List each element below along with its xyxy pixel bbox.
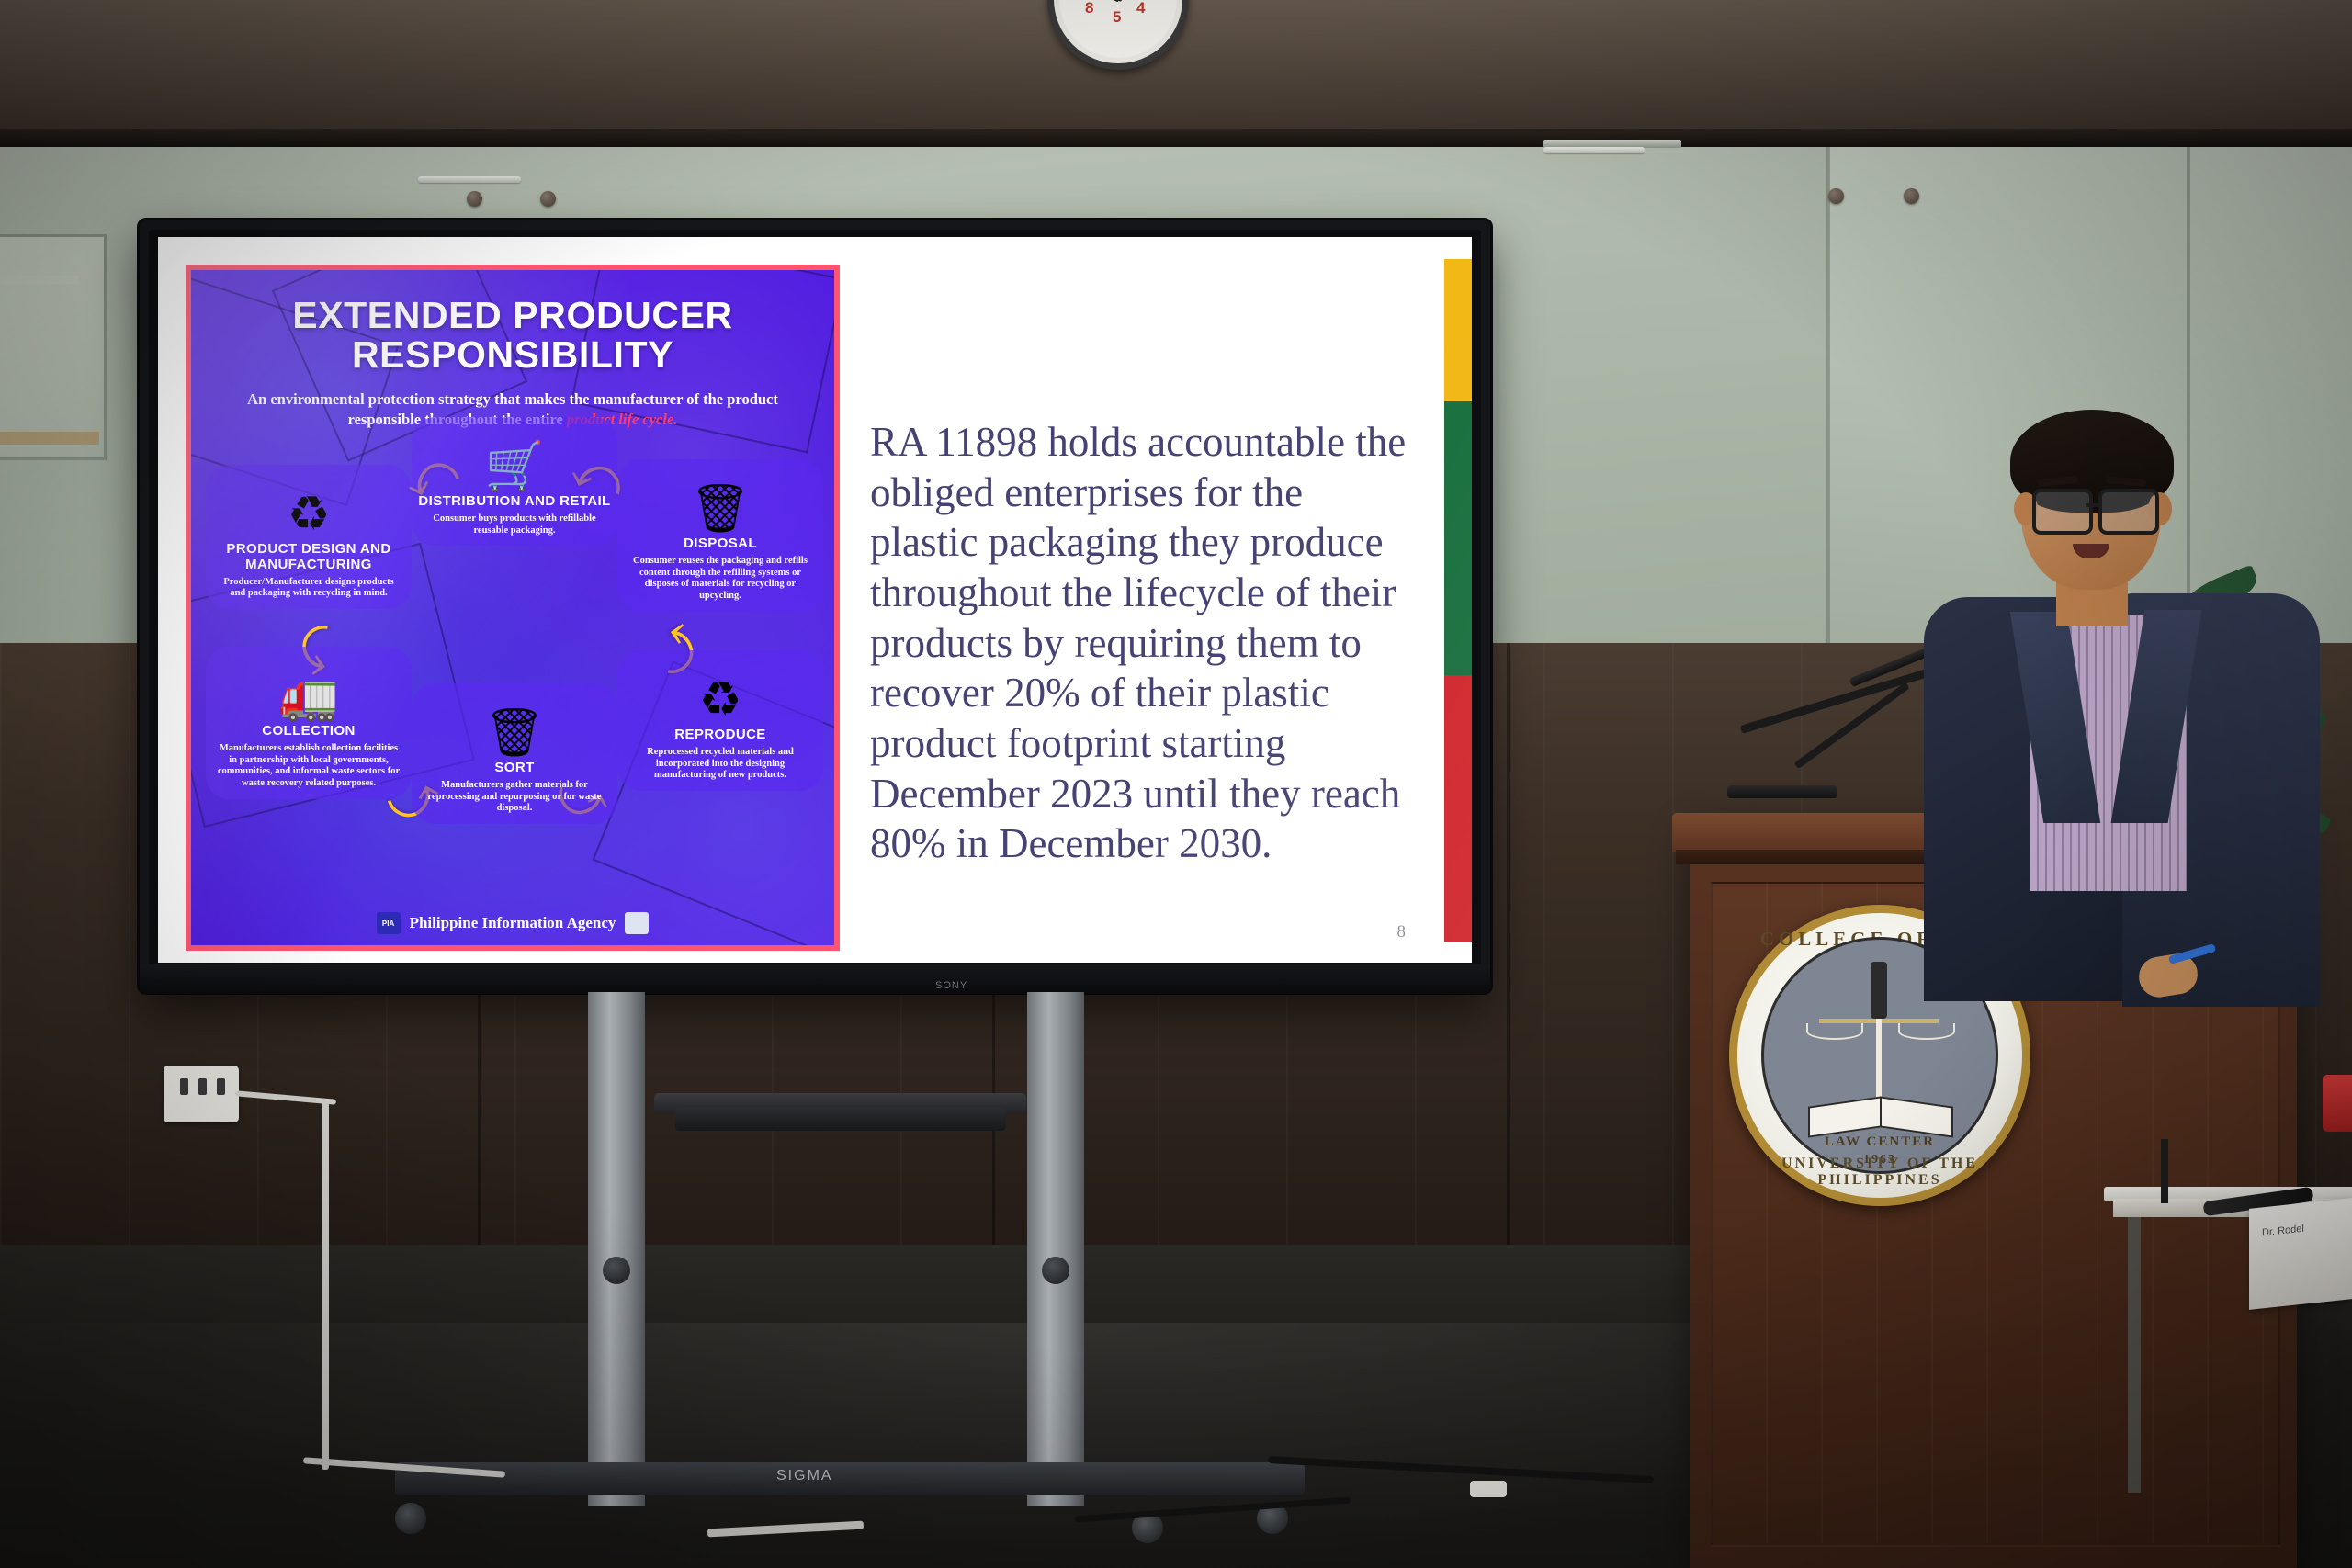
pia-logo-icon: PIA bbox=[377, 912, 401, 934]
recycle-arrows-icon: ♻ bbox=[623, 656, 818, 724]
flow-node-text: Reprocessed recycled materials and incor… bbox=[623, 747, 818, 782]
slide-page-number: 8 bbox=[1397, 922, 1407, 942]
flow-node-disposal: 🗑 DISPOSAL Consumer reuses the packaging… bbox=[617, 459, 823, 612]
display-stand-crossbar bbox=[675, 1107, 1006, 1131]
conference-room-scene: 5 4 8 bbox=[0, 0, 2352, 1568]
presentation-display[interactable]: EXTENDED PRODUCER RESPONSIBILITY An envi… bbox=[140, 220, 1490, 992]
flow-node-product-design: ♻ PRODUCT DESIGN AND MANUFACTURING Produ… bbox=[206, 465, 412, 609]
wall-trim bbox=[0, 129, 2352, 149]
infographic-footer: PIA Philippine Information Agency bbox=[191, 912, 834, 934]
wall-artwork bbox=[0, 234, 107, 460]
flow-node-text: Producer/Manufacturer designs products a… bbox=[211, 577, 406, 601]
flow-node-heading: PRODUCT DESIGN AND MANUFACTURING bbox=[211, 542, 406, 573]
wall-knob bbox=[467, 191, 482, 207]
trash-bin-icon: 🗑 bbox=[623, 465, 818, 533]
epr-infographic: EXTENDED PRODUCER RESPONSIBILITY An envi… bbox=[186, 265, 840, 951]
stand-knob bbox=[603, 1257, 630, 1284]
infographic-title-line1: EXTENDED PRODUCER bbox=[191, 296, 834, 335]
flow-node-heading: REPRODUCE bbox=[623, 728, 818, 743]
garbage-truck-icon: 🚛 bbox=[211, 652, 406, 720]
flow-node-heading: COLLECTION bbox=[211, 724, 406, 739]
clock-number: 8 bbox=[1085, 0, 1093, 17]
clock-face: 5 4 8 bbox=[1059, 0, 1177, 58]
eyeglasses-bridge bbox=[2086, 503, 2102, 507]
factory-recycle-icon: ♻ bbox=[211, 470, 406, 538]
seal-bottom-arc-text: UNIVERSITY OF THE PHILIPPINES bbox=[1737, 1156, 2022, 1189]
microphone-base bbox=[1727, 785, 1837, 798]
stand-foot-right bbox=[827, 1462, 1305, 1495]
sword-handle-icon bbox=[1871, 962, 1887, 1019]
flow-node-reproduce: ♻ REPRODUCE Reprocessed recycled materia… bbox=[617, 650, 823, 791]
wall-knob bbox=[1828, 188, 1844, 204]
table-leg bbox=[2128, 1217, 2141, 1493]
red-cup bbox=[2323, 1075, 2352, 1132]
accent-bar-red bbox=[1444, 675, 1472, 942]
eyeglasses-right-lens bbox=[2098, 489, 2159, 535]
cable-clip bbox=[1470, 1481, 1507, 1497]
table-microphone-stand bbox=[2161, 1139, 2168, 1203]
flow-node-distribution: 🛒 DISTRIBUTION AND RETAIL Consumer buys … bbox=[412, 417, 617, 546]
shopping-cart-icon: 🛒 bbox=[417, 423, 612, 491]
wall-artwork-strip bbox=[0, 276, 79, 284]
table-nameplate bbox=[2249, 1198, 2352, 1310]
stand-knob bbox=[1042, 1257, 1069, 1284]
outlet-slot bbox=[198, 1078, 207, 1095]
clock-number: 5 bbox=[1113, 8, 1121, 27]
recycle-bins-icon: 🗑 bbox=[417, 689, 612, 757]
wood-panel-line bbox=[1507, 643, 1510, 1249]
display-stand-column-right bbox=[1027, 992, 1084, 1506]
infographic-title: EXTENDED PRODUCER RESPONSIBILITY bbox=[191, 296, 834, 374]
outlet-slot bbox=[217, 1078, 225, 1095]
infographic-credit: Philippine Information Agency bbox=[410, 914, 616, 932]
wall-power-outlet[interactable] bbox=[164, 1066, 239, 1122]
flow-node-collection: 🚛 COLLECTION Manufacturers establish col… bbox=[206, 647, 412, 799]
flow-node-text: Consumer reuses the packaging and refill… bbox=[623, 556, 818, 603]
display-screen[interactable]: EXTENDED PRODUCER RESPONSIBILITY An envi… bbox=[158, 237, 1472, 963]
flow-node-sort: 🗑 SORT Manufacturers gather materials fo… bbox=[412, 683, 617, 824]
flow-node-heading: DISTRIBUTION AND RETAIL bbox=[417, 494, 612, 510]
flow-node-text: Manufacturers establish collection facil… bbox=[211, 743, 406, 790]
wall-slot bbox=[418, 176, 521, 183]
presenter bbox=[1893, 404, 2334, 1047]
wall-seam bbox=[1826, 147, 1830, 648]
eyeglasses-left-lens bbox=[2032, 489, 2093, 535]
flow-node-text: Consumer buys products with refillable r… bbox=[417, 513, 612, 537]
pia-badge-icon bbox=[625, 912, 649, 934]
accent-bar-yellow bbox=[1444, 259, 1472, 401]
clock-hand-hour bbox=[1117, 0, 1137, 2]
display-brand-label: SONY bbox=[935, 980, 967, 991]
display-stand-column-left bbox=[588, 992, 645, 1506]
power-cable bbox=[322, 1102, 329, 1470]
open-book-icon bbox=[1880, 1096, 1953, 1137]
seal-center-line1: LAW CENTER bbox=[1764, 1134, 1996, 1150]
infographic-title-line2: RESPONSIBILITY bbox=[191, 335, 834, 375]
presentation-slide: EXTENDED PRODUCER RESPONSIBILITY An envi… bbox=[158, 237, 1472, 963]
slide-accent-bars bbox=[1424, 237, 1472, 963]
stand-caster bbox=[395, 1503, 426, 1534]
display-chin: SONY bbox=[140, 964, 1490, 994]
accent-bar-green bbox=[1444, 401, 1472, 675]
scales-pan-left bbox=[1806, 1023, 1863, 1040]
flow-node-text: Manufacturers gather materials for repro… bbox=[417, 780, 612, 815]
flow-node-heading: DISPOSAL bbox=[623, 536, 818, 552]
outlet-slot bbox=[180, 1078, 188, 1095]
wall-knob bbox=[1904, 188, 1919, 204]
slide-body-text: RA 11898 holds accountable the obliged e… bbox=[870, 417, 1408, 869]
stand-brand-label: SIGMA bbox=[776, 1468, 833, 1484]
open-book-icon bbox=[1808, 1096, 1882, 1137]
wall-artwork-strip bbox=[0, 432, 99, 445]
clock-number: 4 bbox=[1136, 0, 1145, 17]
flow-node-heading: SORT bbox=[417, 761, 612, 776]
wall-knob bbox=[540, 191, 556, 207]
wall-slot bbox=[1543, 147, 1645, 153]
